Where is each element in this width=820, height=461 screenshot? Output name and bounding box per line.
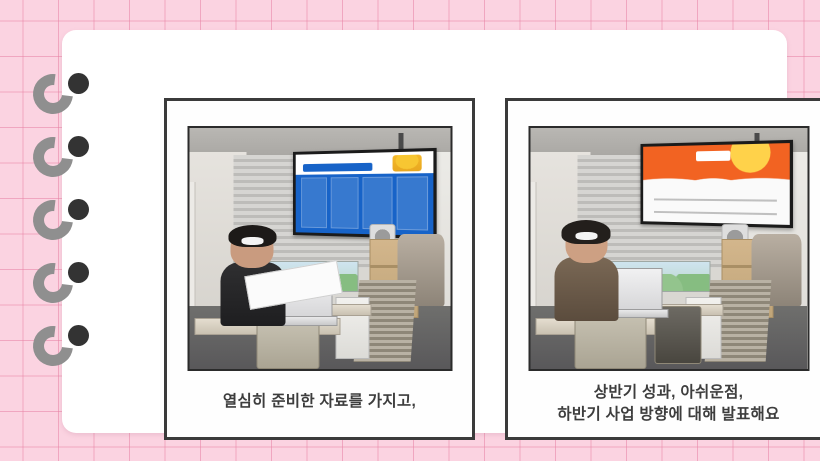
person-presenter: [555, 224, 619, 320]
binder-ring-5: [33, 326, 89, 366]
wall-tv-orange-slide: [640, 140, 793, 229]
person-head: [565, 224, 607, 263]
white-note-card: 열심히 준비한 자료를 가지고,: [62, 30, 787, 433]
door: [531, 182, 537, 316]
agenda-bullet-lines: [654, 194, 777, 222]
binder-ring-4: [33, 263, 89, 303]
binder-ring-3: [33, 200, 89, 240]
door: [190, 182, 196, 316]
cloud-shapes: [643, 168, 790, 226]
caption-right-line-2: 하반기 사업 방향에 대해 발표해요: [508, 404, 820, 426]
binder-ring-bead: [68, 262, 89, 283]
office-scene-left: [189, 128, 450, 369]
binder-ring-bead: [68, 73, 89, 94]
photo-presenter-at-laptop[interactable]: [528, 126, 809, 371]
face-mask: [575, 232, 597, 240]
caption-left: 열심히 준비한 자료를 가지고,: [167, 391, 472, 413]
photo-frame-right[interactable]: 상반기 성과, 아쉬운점, 하반기 사업 방향에 대해 발표해요: [505, 98, 820, 440]
tv-screen: [295, 151, 433, 236]
slide-column-2: [330, 177, 358, 229]
slide-title-badge: [695, 151, 730, 162]
binder-ring-bead: [68, 136, 89, 157]
safety-badge-icon: [392, 154, 421, 171]
binder-ring-bead: [68, 325, 89, 346]
slide-column-3: [363, 177, 392, 230]
face-mask: [241, 237, 263, 245]
slide-title-bar: [303, 163, 372, 171]
binder-ring-2: [33, 137, 89, 177]
binder-ring-bead: [68, 199, 89, 220]
caption-left-line-1: 열심히 준비한 자료를 가지고,: [167, 391, 472, 413]
photo-presenter-with-documents[interactable]: [187, 126, 452, 371]
caption-right: 상반기 성과, 아쉬운점, 하반기 사업 방향에 대해 발표해요: [508, 382, 820, 427]
person-head: [231, 229, 274, 268]
slide-column-4: [396, 176, 427, 230]
person-torso: [555, 257, 619, 321]
office-scene-right: [530, 128, 807, 369]
wall-tv-blue-slide: [293, 148, 437, 239]
caption-right-line-1: 상반기 성과, 아쉬운점,: [508, 382, 820, 404]
binder-ring-1: [33, 74, 89, 114]
slide-column-1: [300, 177, 326, 228]
tv-screen: [643, 144, 790, 226]
photo-frame-left[interactable]: 열심히 준비한 자료를 가지고,: [164, 98, 475, 440]
